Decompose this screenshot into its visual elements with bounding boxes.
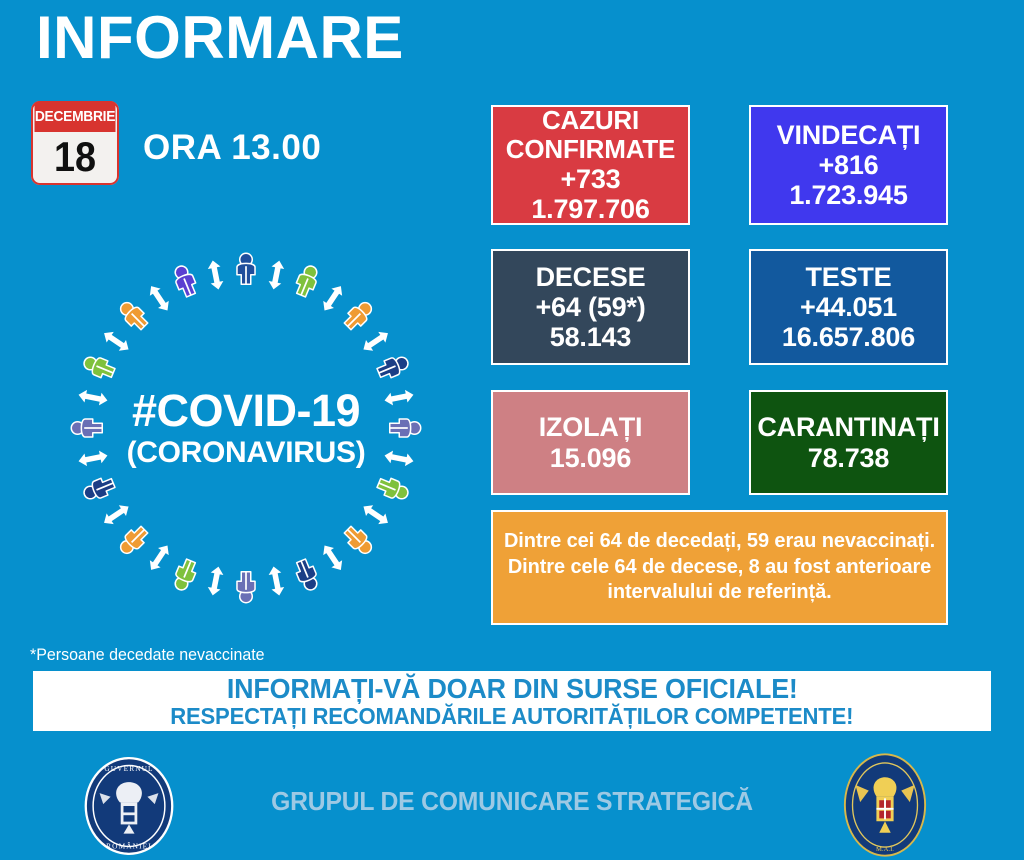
person-figure xyxy=(171,263,200,299)
double-arrow-icon xyxy=(100,501,132,528)
double-arrow-icon xyxy=(319,542,346,574)
double-arrow-icon xyxy=(146,282,173,314)
people-ring xyxy=(71,253,420,602)
stat-delta: +64 (59*) xyxy=(535,292,645,322)
stat-total: 78.738 xyxy=(808,443,889,473)
stat-box-decese: DECESE +64 (59*) 58.143 xyxy=(491,249,690,365)
vaccination-note: Dintre cei 64 de decedați, 59 erau nevac… xyxy=(491,510,948,625)
stat-label: VINDECAȚI xyxy=(777,120,921,150)
banner-line-1: INFORMAȚI-VĂ DOAR DIN SURSE OFICIALE! xyxy=(227,674,798,703)
double-arrow-icon xyxy=(267,565,285,596)
double-arrow-icon xyxy=(100,328,132,355)
person-figure xyxy=(390,419,421,437)
stat-delta: +733 xyxy=(560,164,620,194)
double-arrow-icon xyxy=(77,388,108,406)
double-arrow-icon xyxy=(77,449,108,467)
calendar-icon: DECEMBRIE 18 xyxy=(31,101,119,185)
page-title: INFORMARE xyxy=(36,8,404,68)
stat-label: CAZURI xyxy=(542,106,639,135)
double-arrow-icon xyxy=(360,501,392,528)
double-arrow-icon xyxy=(319,282,346,314)
calendar-day: 18 xyxy=(35,132,114,185)
double-arrow-icon xyxy=(206,259,224,290)
stat-total: 1.797.706 xyxy=(531,194,649,224)
calendar-month: DECEMBRIE xyxy=(35,101,116,132)
banner-line-2: RESPECTAȚI RECOMANDĂRILE AUTORITĂȚILOR C… xyxy=(170,704,853,728)
stat-total: 1.723.945 xyxy=(789,180,907,210)
person-figure xyxy=(81,353,117,382)
infographic-root: INFORMARE DECEMBRIE 18 ORA 13.00 #COVID-… xyxy=(0,0,1024,860)
svg-text:M.A.I.: M.A.I. xyxy=(876,846,894,853)
stat-delta: +44.051 xyxy=(800,292,897,322)
double-arrow-icon xyxy=(360,328,392,355)
dsu-logo: M.A.I. xyxy=(842,752,928,858)
svg-text:GUVERNUL: GUVERNUL xyxy=(104,764,153,773)
stat-total: 15.096 xyxy=(550,443,631,473)
person-figure xyxy=(293,263,322,299)
person-figure xyxy=(293,557,322,593)
double-arrow-icon xyxy=(206,565,224,596)
person-figure xyxy=(341,523,376,558)
person-figure xyxy=(71,419,102,437)
stat-label: DECESE xyxy=(536,262,646,292)
person-figure xyxy=(375,353,411,382)
double-arrow-icon xyxy=(267,259,285,290)
svg-text:ROMÂNIEI: ROMÂNIEI xyxy=(106,840,152,850)
person-figure xyxy=(237,253,255,284)
stat-box-teste: TESTE +44.051 16.657.806 xyxy=(749,249,948,365)
person-figure xyxy=(116,523,151,558)
stat-box-vindecati: VINDECAȚI +816 1.723.945 xyxy=(749,105,948,225)
person-figure xyxy=(116,298,151,333)
covid-circle-graphic: #COVID-19 (CORONAVIRUS) xyxy=(36,228,456,628)
person-figure xyxy=(341,298,376,333)
report-hour: ORA 13.00 xyxy=(143,128,321,168)
person-figure xyxy=(171,557,200,593)
stat-label: CARANTINAȚI xyxy=(757,412,939,442)
stat-label: IZOLAȚI xyxy=(539,412,643,442)
stat-total: 58.143 xyxy=(550,322,631,352)
double-arrow-icon xyxy=(146,542,173,574)
stat-box-carantinati: CARANTINAȚI 78.738 xyxy=(749,390,948,495)
person-figure xyxy=(237,572,255,603)
official-sources-banner: INFORMAȚI-VĂ DOAR DIN SURSE OFICIALE! RE… xyxy=(33,671,991,731)
stat-box-cazuri-confirmate: CAZURI CONFIRMATE +733 1.797.706 xyxy=(491,105,690,225)
person-figure xyxy=(81,475,117,504)
stat-box-izolati: IZOLAȚI 15.096 xyxy=(491,390,690,495)
footnote-asterisk: *Persoane decedate nevaccinate xyxy=(30,645,265,665)
stat-total: 16.657.806 xyxy=(782,322,915,352)
stat-label-line2: CONFIRMATE xyxy=(506,135,675,164)
stat-label: TESTE xyxy=(805,262,891,292)
stat-delta: +816 xyxy=(818,150,878,180)
double-arrow-icon xyxy=(383,449,414,467)
person-figure xyxy=(375,475,411,504)
double-arrow-icon xyxy=(383,388,414,406)
